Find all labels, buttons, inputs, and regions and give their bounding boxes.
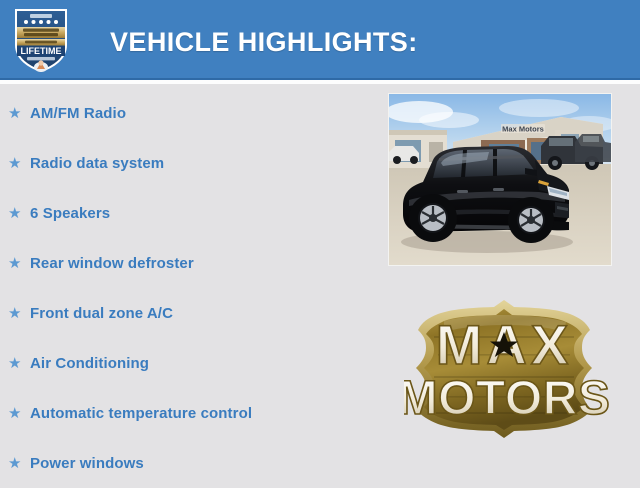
list-item: ★ Air Conditioning [0,338,380,388]
star-icon: ★ [8,256,30,271]
highlight-label: Power windows [30,455,144,472]
max-motors-logo: MAX MOTORS [404,292,616,450]
star-icon: ★ [8,156,30,171]
logo-line-2-text: MOTORS [404,372,610,425]
star-icon: ★ [8,406,30,421]
list-item: ★ AM/FM Radio [0,88,380,138]
svg-text:LIFETIME: LIFETIME [21,46,62,56]
vehicle-photo: Max Motors [388,93,612,266]
highlight-label: AM/FM Radio [30,105,126,122]
highlight-label: Radio data system [30,155,164,172]
list-item: ★ Rear window defroster [0,238,380,288]
list-item: ★ Power windows [0,438,380,488]
page-header: LIFETIME VEHICLE HIGHLIGHTS: [0,0,640,78]
star-icon: ★ [8,306,30,321]
list-item: ★ 6 Speakers [0,188,380,238]
highlight-label: Rear window defroster [30,255,194,272]
svg-text:Max Motors: Max Motors [502,124,544,133]
list-item: ★ Radio data system [0,138,380,188]
page-title: VEHICLE HIGHLIGHTS: [110,27,418,58]
highlight-label: 6 Speakers [30,205,110,222]
highlight-label: Air Conditioning [30,355,149,372]
vehicle-highlights-list: ★ AM/FM Radio ★ Radio data system ★ 6 Sp… [0,88,380,488]
header-separator [0,80,640,84]
star-icon: ★ [8,456,30,471]
carfax-lifetime-dealer-badge: LIFETIME [13,7,69,73]
star-icon: ★ [8,206,30,221]
list-item: ★ Automatic temperature control [0,388,380,438]
highlight-label: Front dual zone A/C [30,305,173,322]
highlight-label: Automatic temperature control [30,405,252,422]
star-icon: ★ [8,356,30,371]
list-item: ★ Front dual zone A/C [0,288,380,338]
star-icon: ★ [8,106,30,121]
